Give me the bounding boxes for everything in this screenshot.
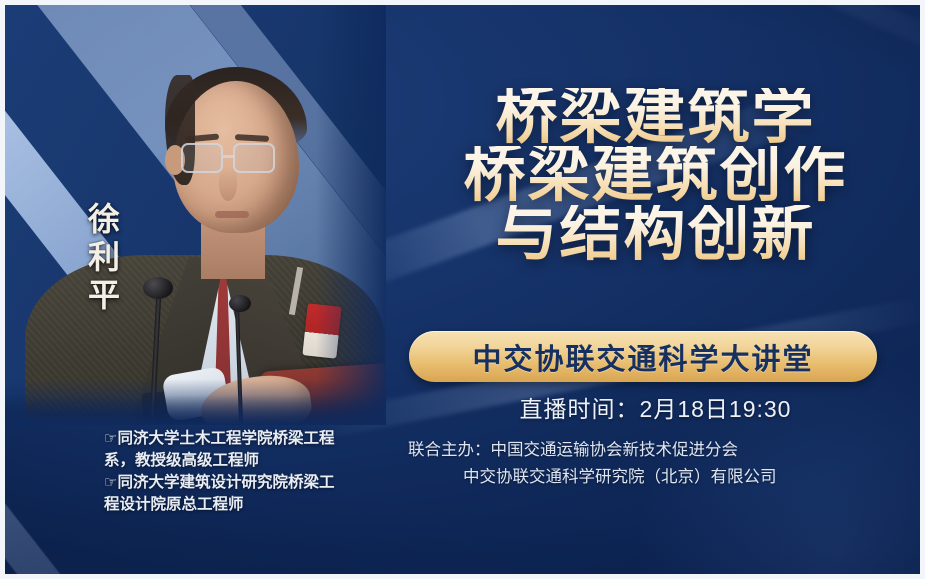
poster-title: 桥梁建筑学 桥梁建筑创作 与结构创新 <box>386 88 925 263</box>
live-time: 直播时间：2月18日19:30 <box>386 390 925 424</box>
bio-line-3: ☞同济大学建筑设计研究院桥梁工 <box>104 472 404 494</box>
webinar-poster: 徐利平 ☞同济大学土木工程学院桥梁工程 系，教授级高级工程师 ☞同济大学建筑设计… <box>0 0 925 579</box>
bio-line-2: 系，教授级高级工程师 <box>104 450 404 472</box>
organizers: 联合主办：中国交通运输协会新技术促进分会 中交协联交通科学研究院（北京）有限公司 <box>408 437 925 490</box>
bio-line-1: ☞同济大学土木工程学院桥梁工程 <box>104 428 404 450</box>
glasses-lens-right <box>233 143 275 173</box>
title-line-1: 桥梁建筑学 <box>386 88 925 146</box>
organizer-row-1: 联合主办：中国交通运输协会新技术促进分会 <box>408 437 925 464</box>
series-badge: 中交协联交通科学大讲堂 <box>409 331 877 382</box>
microphone-head-right <box>229 295 251 312</box>
bio-line-4: 程设计院原总工程师 <box>104 494 404 516</box>
poster-content-column: 桥梁建筑学 桥梁建筑创作 与结构创新 中交协联交通科学大讲堂 直播时间：2月18… <box>386 0 925 579</box>
pointing-hand-icon-2: ☞ <box>104 474 117 491</box>
series-badge-label: 中交协联交通科学大讲堂 <box>472 336 813 378</box>
bio-text-3: 同济大学建筑设计研究院桥梁工 <box>117 474 334 491</box>
speaker-photo <box>5 5 386 425</box>
glasses-bridge <box>223 155 235 158</box>
speaker-name: 徐利平 <box>86 202 118 316</box>
glasses-lens-left <box>181 143 223 173</box>
title-line-3: 与结构创新 <box>386 205 925 263</box>
bio-text-1: 同济大学土木工程学院桥梁工程 <box>117 430 334 447</box>
photo-fade-bottom <box>5 379 386 425</box>
speaker-mouth <box>215 211 249 218</box>
speaker-bio: ☞同济大学土木工程学院桥梁工程 系，教授级高级工程师 ☞同济大学建筑设计研究院桥… <box>104 428 404 516</box>
photo-fade-right <box>316 5 386 425</box>
microphone-head-left <box>143 277 173 299</box>
organizer-row-2: 中交协联交通科学研究院（北京）有限公司 <box>408 464 925 491</box>
pointing-hand-icon: ☞ <box>104 430 117 447</box>
title-line-2: 桥梁建筑创作 <box>386 146 925 204</box>
speaker-nose <box>219 167 237 201</box>
